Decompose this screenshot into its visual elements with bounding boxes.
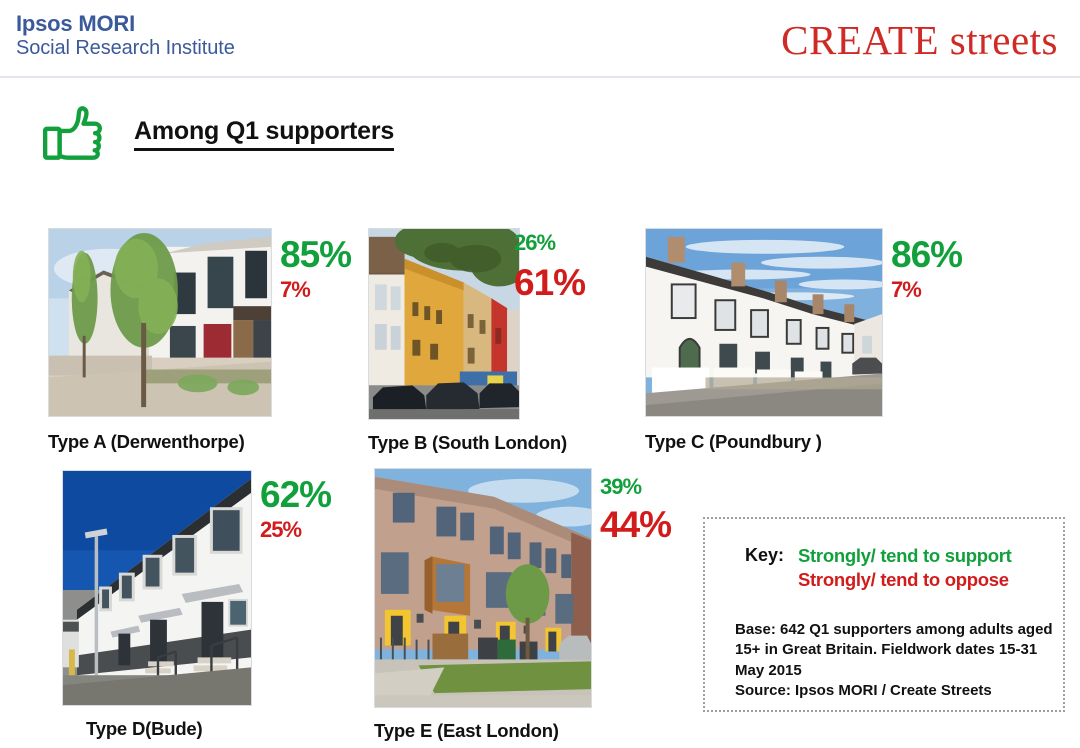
percentages-type-d: 62% 25% <box>260 476 331 541</box>
thumbs-up-icon <box>40 101 106 167</box>
oppose-percent-type-b: 61% <box>514 264 585 301</box>
card-type-c: Type C (Poundbury ) 86% 7% <box>645 228 883 453</box>
photo-type-d <box>62 470 252 706</box>
card-type-e: Type E (East London) 39% 44% <box>374 468 592 742</box>
legend-entry-oppose: Strongly/ tend to oppose <box>798 568 1011 592</box>
percentages-type-e: 39% 44% <box>600 476 671 543</box>
percentages-type-c: 86% 7% <box>891 236 962 301</box>
photo-type-a <box>48 228 272 417</box>
photo-type-b <box>368 228 520 420</box>
support-percent-type-b: 26% <box>514 232 585 254</box>
oppose-percent-type-d: 25% <box>260 519 331 541</box>
caption-type-a: Type A (Derwenthorpe) <box>48 431 272 453</box>
key-entries: Strongly/ tend to support Strongly/ tend… <box>798 544 1011 592</box>
photo-type-c <box>645 228 883 417</box>
page-title: Among Q1 supporters <box>134 117 394 151</box>
key-label: Key: <box>745 544 784 566</box>
support-percent-type-c: 86% <box>891 236 962 273</box>
card-type-b: Type B (South London) 26% 61% <box>368 228 567 454</box>
key-legend-box: Key: Strongly/ tend to support Strongly/… <box>703 517 1065 712</box>
percentages-type-a: 85% 7% <box>280 236 351 301</box>
oppose-percent-type-c: 7% <box>891 279 962 301</box>
caption-type-e: Type E (East London) <box>374 720 592 742</box>
oppose-percent-type-e: 44% <box>600 506 671 543</box>
source-note: Source: Ipsos MORI / Create Streets <box>735 682 992 699</box>
card-type-a: Type A (Derwenthorpe) 85% 7% <box>48 228 272 453</box>
photo-type-e <box>374 468 592 708</box>
brand-name: Ipsos MORI <box>16 11 235 37</box>
page-header: Ipsos MORI Social Research Institute CRE… <box>0 0 1080 78</box>
support-percent-type-d: 62% <box>260 476 331 513</box>
slide-title-row: Among Q1 supporters <box>40 98 394 170</box>
caption-type-c: Type C (Poundbury ) <box>645 431 883 453</box>
key-header: Key: Strongly/ tend to support Strongly/… <box>745 544 1011 592</box>
ipsos-mori-logo: Ipsos MORI Social Research Institute <box>16 11 235 60</box>
support-percent-type-a: 85% <box>280 236 351 273</box>
create-streets-logo: CREATE streets <box>781 16 1058 64</box>
support-percent-type-e: 39% <box>600 476 671 498</box>
card-type-d: Type D(Bude) 62% 25% <box>62 470 252 740</box>
caption-type-b: Type B (South London) <box>368 432 567 454</box>
base-note: Base: 642 Q1 supporters among adults age… <box>735 620 1057 681</box>
brand-tagline: Social Research Institute <box>16 37 235 60</box>
caption-type-d: Type D(Bude) <box>86 718 252 740</box>
oppose-percent-type-a: 7% <box>280 279 351 301</box>
percentages-type-b: 26% 61% <box>514 232 585 301</box>
legend-entry-support: Strongly/ tend to support <box>798 544 1011 568</box>
